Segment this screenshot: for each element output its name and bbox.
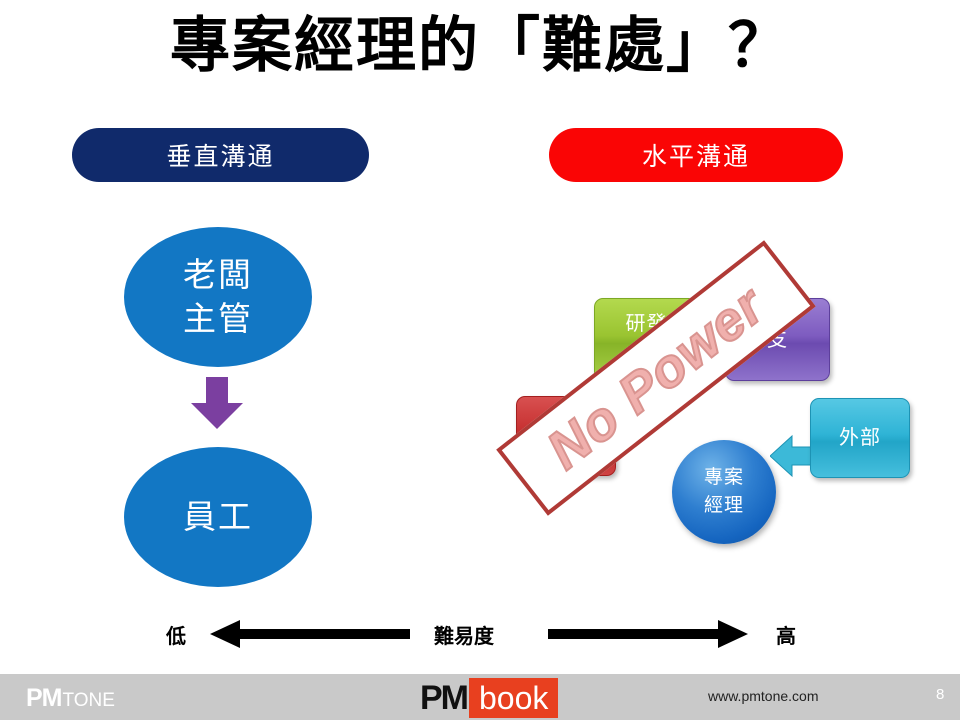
node-external-line1: 外部 bbox=[839, 422, 881, 454]
slide-canvas: 專案經理的「難處」？ 垂直溝通 水平溝通 老闆 主管 員工 研發 工程 支 業務… bbox=[0, 0, 960, 720]
node-boss: 老闆 主管 bbox=[124, 227, 312, 367]
footer-url[interactable]: www.pmtone.com bbox=[708, 688, 818, 704]
footer-bar: PM TONE PM book www.pmtone.com 8 bbox=[0, 674, 960, 720]
difficulty-scale: 低 難易度 高 bbox=[0, 614, 960, 654]
pmbook-logo-pm: PM bbox=[420, 678, 467, 718]
pmbook-logo: PM book bbox=[420, 678, 558, 718]
arrow-left-icon bbox=[210, 618, 410, 650]
down-arrow-icon bbox=[186, 377, 248, 429]
scale-mid-label: 難易度 bbox=[434, 620, 494, 649]
pmbook-logo-book: book bbox=[469, 678, 558, 718]
label-vertical-communication: 垂直溝通 bbox=[72, 128, 369, 182]
arrow-right-icon bbox=[548, 618, 748, 650]
node-staff-line1: 員工 bbox=[183, 495, 253, 539]
page-title: 專案經理的「難處」？ bbox=[0, 8, 960, 83]
page-number: 8 bbox=[936, 686, 944, 703]
node-pm-line1: 專案 bbox=[704, 464, 744, 493]
node-boss-line2: 主管 bbox=[183, 297, 253, 341]
node-pm-line2: 經理 bbox=[704, 492, 744, 521]
pmtone-logo-tone: TONE bbox=[63, 690, 115, 712]
pill-horizontal-label: 水平溝通 bbox=[642, 137, 750, 173]
scale-low-label: 低 bbox=[166, 620, 186, 649]
pill-vertical-label: 垂直溝通 bbox=[166, 137, 274, 173]
node-staff: 員工 bbox=[124, 447, 312, 587]
node-external: 外部 bbox=[810, 398, 910, 478]
pmtone-logo-pm: PM bbox=[26, 684, 62, 713]
node-project-manager: 專案 經理 bbox=[672, 440, 776, 544]
label-horizontal-communication: 水平溝通 bbox=[549, 128, 843, 182]
pmtone-logo: PM TONE bbox=[26, 684, 115, 713]
scale-high-label: 高 bbox=[776, 620, 796, 649]
node-boss-line1: 老闆 bbox=[183, 253, 253, 297]
